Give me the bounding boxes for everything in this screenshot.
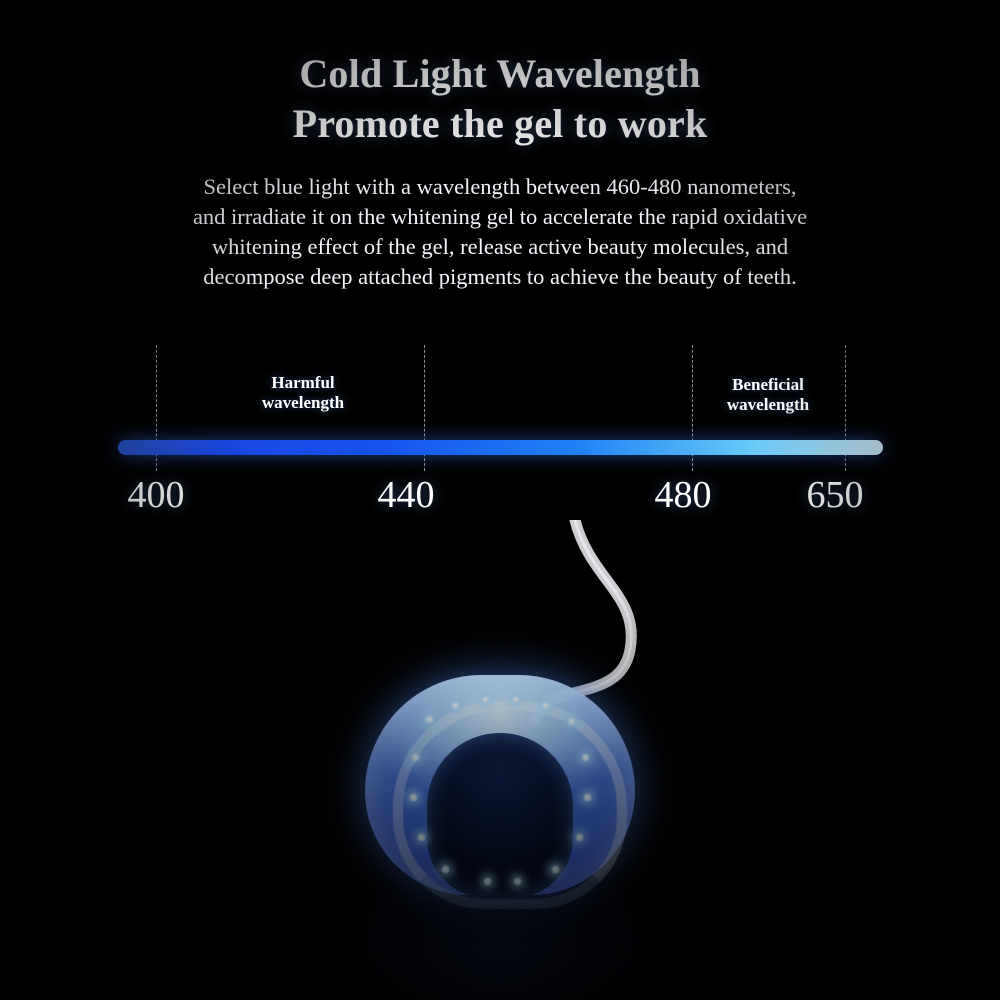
led-light bbox=[425, 715, 434, 724]
description-line-2: and irradiate it on the whitening gel to… bbox=[95, 202, 905, 232]
beneficial-wavelength-label: Beneficial wavelength bbox=[693, 375, 843, 415]
led-light bbox=[581, 753, 590, 762]
led-light bbox=[481, 695, 490, 704]
description-paragraph: Select blue light with a wavelength betw… bbox=[95, 172, 905, 292]
led-light bbox=[411, 753, 420, 762]
device-illustration bbox=[0, 520, 1000, 950]
mouthpiece-cavity bbox=[427, 733, 573, 898]
axis-value-480: 480 bbox=[655, 473, 712, 517]
description-line-4: decompose deep attached pigments to achi… bbox=[95, 262, 905, 292]
page-title-line-2: Promote the gel to work bbox=[0, 100, 1000, 147]
page-title-line-1: Cold Light Wavelength bbox=[0, 50, 1000, 97]
axis-value-400: 400 bbox=[128, 473, 185, 517]
product-infographic: Cold Light Wavelength Promote the gel to… bbox=[0, 0, 1000, 1000]
led-mouthpiece bbox=[365, 675, 635, 905]
description-line-1: Select blue light with a wavelength betw… bbox=[95, 172, 905, 202]
led-light bbox=[551, 865, 560, 874]
led-light bbox=[483, 877, 492, 886]
wavelength-scale: Harmful wavelength Beneficial wavelength… bbox=[118, 345, 883, 540]
led-light bbox=[441, 865, 450, 874]
led-light bbox=[511, 695, 520, 704]
axis-value-440: 440 bbox=[378, 473, 435, 517]
led-light bbox=[583, 793, 592, 802]
led-light bbox=[567, 717, 576, 726]
led-light bbox=[451, 701, 460, 710]
description-line-3: whitening effect of the gel, release act… bbox=[95, 232, 905, 262]
led-light bbox=[541, 701, 550, 710]
axis-value-650: 650 bbox=[807, 473, 864, 517]
led-light bbox=[409, 793, 418, 802]
led-light bbox=[575, 833, 584, 842]
harmful-wavelength-label: Harmful wavelength bbox=[228, 373, 378, 413]
led-light bbox=[417, 833, 426, 842]
wavelength-gradient-bar bbox=[118, 440, 883, 455]
led-light bbox=[513, 877, 522, 886]
